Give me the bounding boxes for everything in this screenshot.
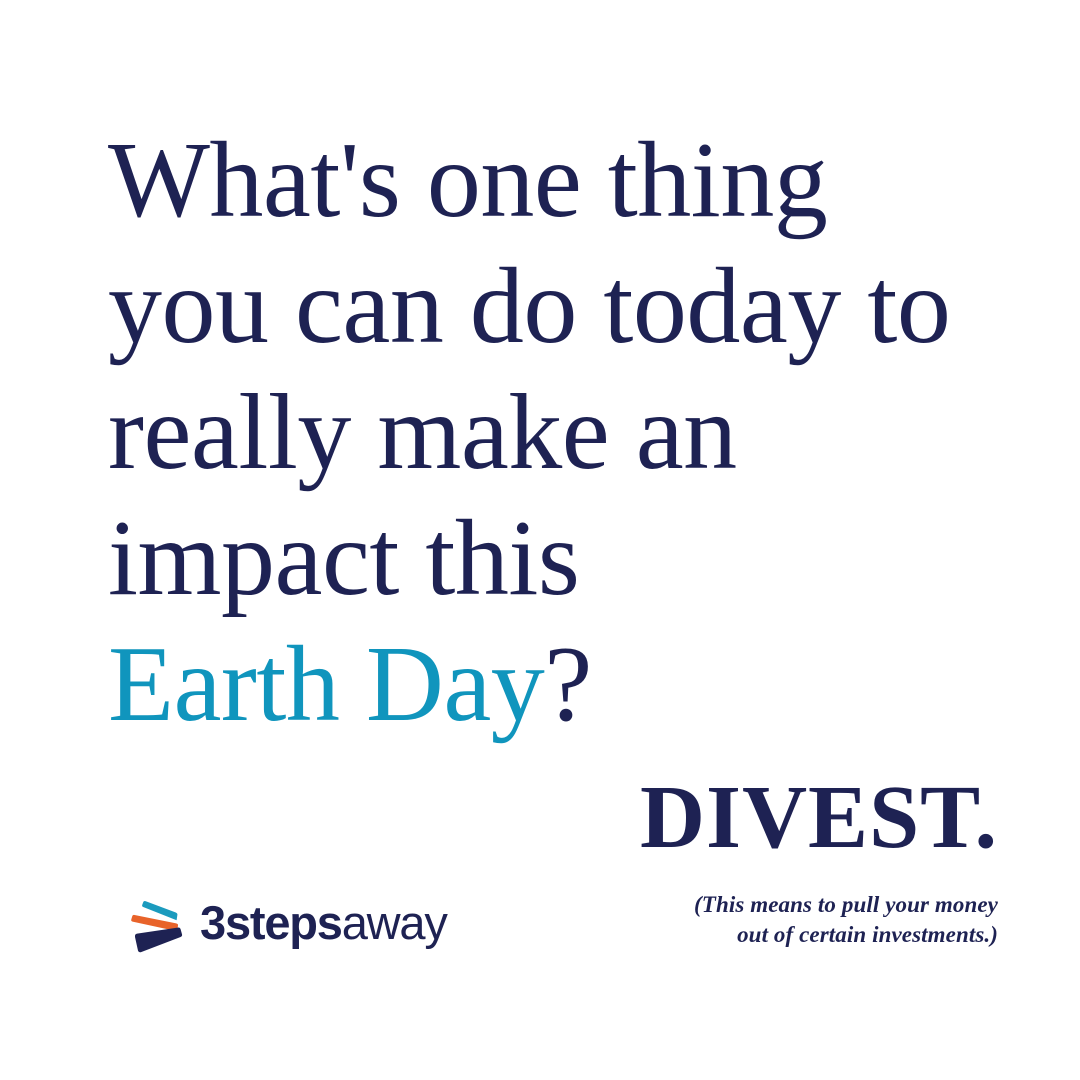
headline-accent-earth-day: Earth Day xyxy=(108,625,544,744)
divest-explanation-line-1: (This means to pull your money xyxy=(478,890,998,920)
logo-wordmark-bold: 3steps xyxy=(200,896,342,949)
headline: What's one thing you can do today to rea… xyxy=(108,118,1008,748)
divest-word: DIVEST. xyxy=(478,772,998,864)
logo-wordmark: 3stepsaway xyxy=(200,899,447,946)
divest-explanation-line-2: out of certain investments.) xyxy=(478,920,998,950)
brand-logo[interactable]: 3stepsaway xyxy=(128,890,447,954)
headline-line-2: you can do today to xyxy=(108,244,1008,370)
divest-callout: DIVEST. (This means to pull your money o… xyxy=(478,772,998,950)
headline-line-4: impact this xyxy=(108,496,1008,622)
headline-line-3: really make an xyxy=(108,370,1008,496)
logo-wordmark-light: away xyxy=(342,896,447,949)
headline-line-1: What's one thing xyxy=(108,118,1008,244)
headline-question-mark: ? xyxy=(544,625,591,744)
poster-canvas: What's one thing you can do today to rea… xyxy=(0,0,1080,1080)
divest-explanation: (This means to pull your money out of ce… xyxy=(478,890,998,950)
logo-blades-icon xyxy=(128,890,190,954)
headline-line-5: Earth Day? xyxy=(108,622,1008,748)
